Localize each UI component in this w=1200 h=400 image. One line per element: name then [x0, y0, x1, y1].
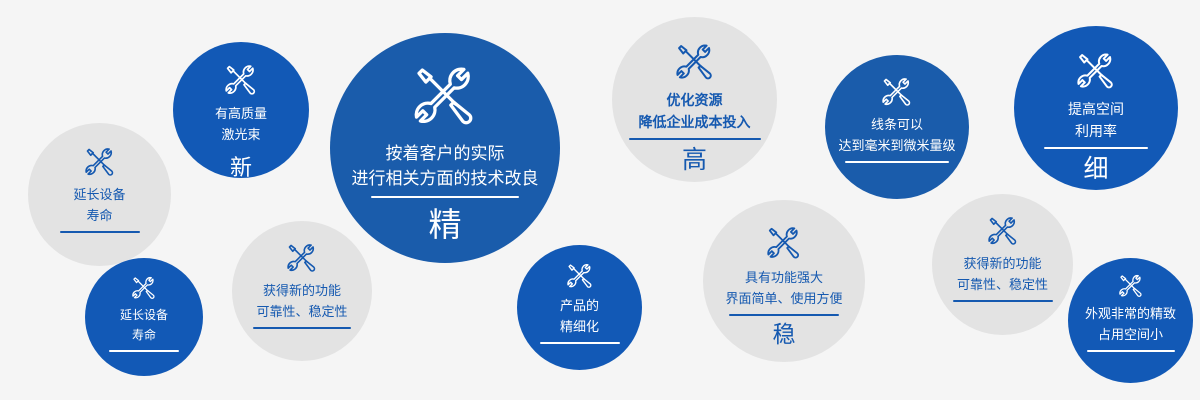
- feature-bubble-new-features-reliability-gray-right[interactable]: 获得新的功能可靠性、稳定性: [932, 194, 1073, 335]
- wrench-screwdriver-icon: [1077, 52, 1115, 90]
- feature-bubble-text: 有高质量激光束: [173, 103, 309, 145]
- feature-bubble-line: 产品的: [517, 295, 642, 316]
- feature-bubble-line: 延长设备: [85, 305, 203, 325]
- feature-bubble-divider: [1087, 350, 1175, 352]
- feature-bubble-divider: [371, 196, 519, 198]
- feature-bubble-line: 进行相关方面的技术改良: [330, 166, 560, 191]
- feature-bubble-line: 寿命: [85, 325, 203, 345]
- feature-bubble-divider: [540, 342, 620, 344]
- feature-bubble-line: 获得新的功能: [932, 253, 1073, 274]
- feature-bubble-keyword: 稳: [773, 323, 796, 346]
- feature-bubble-compact-refined-appearance[interactable]: 外观非常的精致占用空间小: [1068, 258, 1193, 383]
- feature-bubble-line: 占用空间小: [1068, 324, 1193, 345]
- feature-bubble-text: 延长设备寿命: [85, 305, 203, 345]
- feature-bubble-divider: [953, 300, 1053, 302]
- feature-bubble-line: 寿命: [28, 205, 171, 226]
- feature-bubble-line: 外观非常的精致: [1068, 303, 1193, 324]
- feature-bubble-keyword: 高: [682, 148, 707, 173]
- feature-bubble-line: 按着客户的实际: [330, 141, 560, 166]
- feature-bubble-high-quality-laser-beam[interactable]: 有高质量激光束新: [173, 42, 309, 178]
- feature-bubble-keyword: 细: [1083, 157, 1108, 182]
- feature-bubble-line: 可靠性、稳定性: [932, 274, 1073, 295]
- feature-bubble-extend-equipment-life-gray[interactable]: 延长设备寿命: [28, 123, 171, 266]
- feature-bubble-text: 获得新的功能可靠性、稳定性: [932, 253, 1073, 295]
- feature-bubble-divider: [253, 327, 351, 329]
- feature-bubble-extend-equipment-life-blue[interactable]: 延长设备寿命: [85, 258, 203, 376]
- feature-bubble-line: 降低企业成本投入: [612, 111, 777, 133]
- feature-bubble-text: 具有功能强大界面简单、使用方便: [703, 267, 865, 309]
- wrench-screwdriver-icon: [414, 65, 476, 127]
- feature-bubble-divider: [109, 350, 179, 352]
- feature-bubble-keyword: 精: [429, 208, 462, 241]
- feature-bubble-text: 线条可以达到毫米到微米量级: [825, 114, 969, 156]
- feature-bubble-line: 界面简单、使用方便: [703, 288, 865, 309]
- wrench-screwdriver-icon: [1119, 274, 1143, 298]
- feature-bubbles-canvas: 延长设备寿命有高质量激光束新按着客户的实际进行相关方面的技术改良精优化资源降低企…: [0, 0, 1200, 400]
- feature-bubble-line-width-micron-scale[interactable]: 线条可以达到毫米到微米量级: [825, 55, 969, 199]
- feature-bubble-text: 按着客户的实际进行相关方面的技术改良: [330, 141, 560, 191]
- feature-bubble-divider: [1044, 147, 1148, 149]
- wrench-screwdriver-icon: [567, 263, 593, 289]
- feature-bubble-text: 外观非常的精致占用空间小: [1068, 303, 1193, 345]
- wrench-screwdriver-icon: [287, 243, 317, 273]
- feature-bubble-text: 获得新的功能可靠性、稳定性: [232, 280, 372, 322]
- feature-bubble-line: 具有功能强大: [703, 267, 865, 288]
- wrench-screwdriver-icon: [882, 77, 912, 107]
- feature-bubble-line: 精细化: [517, 316, 642, 337]
- feature-bubble-divider: [629, 138, 761, 140]
- feature-bubble-product-refinement[interactable]: 产品的精细化: [517, 245, 642, 370]
- feature-bubble-divider: [729, 314, 839, 316]
- wrench-screwdriver-icon: [132, 276, 156, 300]
- feature-bubble-line: 有高质量: [173, 103, 309, 124]
- feature-bubble-line: 可靠性、稳定性: [232, 301, 372, 322]
- feature-bubble-text: 优化资源降低企业成本投入: [612, 89, 777, 133]
- feature-bubble-improve-space-utilization[interactable]: 提高空间利用率细: [1014, 26, 1178, 190]
- feature-bubble-optimize-resources-reduce-cost[interactable]: 优化资源降低企业成本投入高: [612, 17, 777, 182]
- feature-bubble-divider: [845, 161, 949, 163]
- wrench-screwdriver-icon: [85, 147, 115, 177]
- feature-bubble-divider: [60, 231, 140, 233]
- feature-bubble-line: 线条可以: [825, 114, 969, 135]
- feature-bubble-keyword: 新: [230, 157, 252, 178]
- feature-bubble-text: 延长设备寿命: [28, 184, 171, 226]
- feature-bubble-new-features-reliability-gray-left[interactable]: 获得新的功能可靠性、稳定性: [232, 221, 372, 361]
- feature-bubble-line: 利用率: [1014, 120, 1178, 142]
- wrench-screwdriver-icon: [676, 43, 714, 81]
- feature-bubble-customer-technical-improvement[interactable]: 按着客户的实际进行相关方面的技术改良精: [330, 33, 560, 263]
- feature-bubble-line: 延长设备: [28, 184, 171, 205]
- feature-bubble-line: 激光束: [173, 124, 309, 145]
- wrench-screwdriver-icon: [225, 64, 257, 96]
- feature-bubble-text: 提高空间利用率: [1014, 98, 1178, 142]
- feature-bubble-powerful-simple-interface[interactable]: 具有功能强大界面简单、使用方便稳: [703, 200, 865, 362]
- feature-bubble-line: 提高空间: [1014, 98, 1178, 120]
- feature-bubble-line: 优化资源: [612, 89, 777, 111]
- feature-bubble-text: 产品的精细化: [517, 295, 642, 337]
- wrench-screwdriver-icon: [988, 216, 1018, 246]
- wrench-screwdriver-icon: [767, 226, 801, 260]
- feature-bubble-line: 达到毫米到微米量级: [825, 135, 969, 156]
- feature-bubble-line: 获得新的功能: [232, 280, 372, 301]
